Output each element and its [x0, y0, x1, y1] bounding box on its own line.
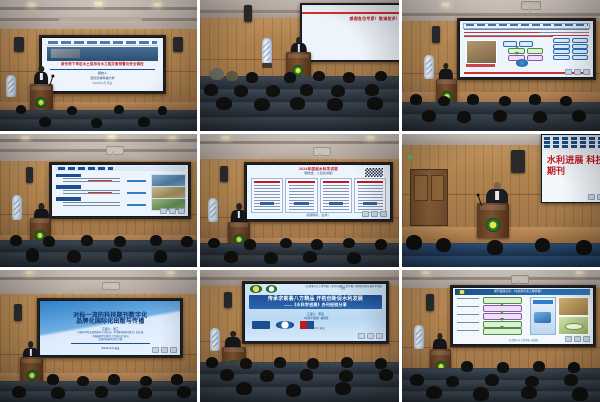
slide-title-line1: 对标一流的科技期刊数字化 [73, 313, 147, 319]
wall-speaker [511, 150, 525, 173]
lecture-hall-scene: 水利进展 科技期刊 [402, 134, 600, 267]
wall-speaker [220, 166, 228, 182]
slide-document-page [251, 178, 283, 213]
journal-cover [558, 297, 590, 316]
lecture-hall-scene: 期刊发展沿革：《水资源与水工程学报》 [402, 270, 600, 402]
wall-speaker [173, 37, 183, 53]
decorative-vase [424, 55, 434, 79]
slide-document-page [320, 178, 352, 213]
wall-speaker [432, 26, 440, 43]
lecture-hall-scene: 对标一流的科技期刊数字化 品牌化国际化出版与传播 汇报人：张三 中国科学院文献情… [0, 270, 197, 402]
photo-cell-bottom-right[interactable]: 期刊发展沿革：《水资源与水工程学报》 [402, 270, 600, 402]
photo-cell-top-right[interactable] [402, 0, 600, 131]
lecture-hall-scene: 2024年度起水科学讲堂 （报告会、公益性讲座） [200, 134, 399, 267]
ceiling-projector [106, 146, 124, 155]
slide-logo [300, 321, 314, 328]
slide-header-text: 《水资源与水工程学报》《水利与建筑工程学报》期刊创刊四十周年学术研讨会 [304, 285, 382, 291]
decorative-vase [6, 75, 16, 97]
presentation-screen[interactable]: 感谢各位专家！敬请批评！ [300, 3, 400, 63]
slide-logo [276, 321, 294, 328]
podium [477, 203, 509, 238]
lecture-hall-scene: 感谢各位专家！敬请批评！ [200, 0, 399, 131]
ceiling [0, 0, 197, 29]
presentation-screen[interactable] [457, 18, 596, 80]
wall-speaker [244, 5, 252, 22]
slide-footer-text: 《水资源与水工程学报》编辑部 [507, 340, 538, 342]
wall-speaker [14, 304, 22, 321]
slide-logo [252, 321, 270, 328]
slide-date-text: 2024年10月 杨凌 [93, 82, 113, 85]
decorative-vase [208, 198, 218, 222]
photo-cell-top-center[interactable]: 感谢各位专家！敬请批评！ [200, 0, 399, 131]
slide-detail-line-3: 全国科技期刊评价专家 [98, 338, 122, 341]
presentation-screen[interactable]: 新形势下旱区水土保持与水工程灾害预警与安全调控 报告人 西北农林科技大学 202… [39, 35, 165, 94]
qr-code [364, 167, 385, 178]
wall-speaker [14, 37, 24, 53]
slide-title-text: 水利进展 科技期刊 [547, 155, 600, 176]
photo-cell-top-left[interactable]: 新形势下旱区水土保持与水工程灾害预警与安全调控 报告人 西北农林科技大学 202… [0, 0, 197, 131]
presentation-screen[interactable]: 水利进展 科技期刊 [541, 134, 600, 203]
slide-header-text: 期刊发展沿革：《水资源与水工程学报》 [494, 289, 543, 293]
slide-footer-text: 感谢聆听，主持！ [306, 213, 330, 217]
slide-title-line2: ——《水科学进展》办刊经验分享 [284, 302, 347, 307]
presentation-screen[interactable]: 对标一流的科技期刊数字化 品牌化国际化出版与传播 汇报人：张三 中国科学院文献情… [37, 298, 183, 359]
ceiling-projector [511, 275, 529, 284]
presentation-screen[interactable] [49, 162, 191, 219]
presentation-screen[interactable]: 2024年度起水科学讲堂 （报告会、公益性讲座） [244, 162, 393, 222]
photo-cell-middle-right[interactable]: 水利进展 科技期刊 [402, 134, 600, 267]
ceiling [0, 270, 197, 294]
presentation-screen[interactable]: 期刊发展沿革：《水资源与水工程学报》 [450, 285, 597, 347]
slide-document-page [285, 178, 317, 213]
decorative-vase [210, 328, 220, 350]
ceiling [200, 134, 399, 159]
slide-logo [250, 285, 261, 292]
slide-photo [151, 174, 186, 187]
slide-document-page [354, 178, 386, 213]
hall-door[interactable] [410, 169, 448, 227]
wall-speaker [224, 292, 232, 308]
slide-logo [457, 290, 467, 294]
decorative-vase [262, 38, 272, 64]
presentation-screen[interactable]: 《水资源与水工程学报》《水利与建筑工程学报》期刊创刊四十周年学术研讨会 传承求索… [242, 281, 389, 344]
ceiling-projector [313, 147, 331, 156]
journal-cover [530, 297, 556, 335]
lecture-hall-scene [402, 0, 600, 131]
slide-title-line2: 品牌化国际化出版与传播 [76, 319, 144, 325]
lecture-hall-scene [0, 134, 197, 267]
exit-light [408, 155, 412, 159]
photo-cell-bottom-center[interactable]: 《水资源与水工程学报》《水利与建筑工程学报》期刊创刊四十周年学术研讨会 传承求索… [200, 270, 399, 402]
photo-cell-middle-left[interactable] [0, 134, 197, 267]
slide-title-line1: 传承求索荟八方精品 开拓创新促水利发展 [268, 296, 363, 302]
slide-title-text: 新形势下旱区水土保持与水工程灾害预警与安全调控 [61, 62, 144, 66]
photo-cell-bottom-left[interactable]: 对标一流的科技期刊数字化 品牌化国际化出版与传播 汇报人：张三 中国科学院文献情… [0, 270, 197, 402]
photo-grid: 新形势下旱区水土保持与水工程灾害预警与安全调控 报告人 西北农林科技大学 202… [0, 0, 600, 402]
decorative-vase [12, 195, 22, 220]
lecture-hall-scene: 新形势下旱区水土保持与水工程灾害预警与安全调控 报告人 西北农林科技大学 202… [0, 0, 197, 131]
slide-presenter-text: 报告人 [98, 71, 107, 75]
photo-cell-middle-center[interactable]: 2024年度起水科学讲堂 （报告会、公益性讲座） [200, 134, 399, 267]
lecture-hall-scene: 《水资源与水工程学报》《水利与建筑工程学报》期刊创刊四十周年学术研讨会 传承求索… [200, 270, 399, 402]
ceiling-projector [102, 282, 120, 291]
slide-subtitle-text: （报告会、公益性讲座） [302, 171, 335, 175]
slide-presenter-text: 汇报人：李四 [307, 312, 324, 316]
journal-cover [558, 316, 590, 336]
slide-title-text: 感谢各位专家！敬请批评！ [350, 16, 399, 21]
slide-photo [151, 186, 186, 199]
wall-speaker [426, 294, 434, 311]
wall-speaker [26, 167, 34, 183]
ceiling [0, 134, 197, 161]
slide-affiliation-text: 《水科学进展》编辑部 [302, 317, 328, 320]
podium [30, 84, 54, 113]
slide-logo [266, 285, 277, 292]
slide-affiliation-text: 西北农林科技大学 [90, 76, 114, 80]
decorative-vase [414, 325, 424, 349]
slide-footer-text: 2024年10月 杨凌 [101, 347, 119, 350]
